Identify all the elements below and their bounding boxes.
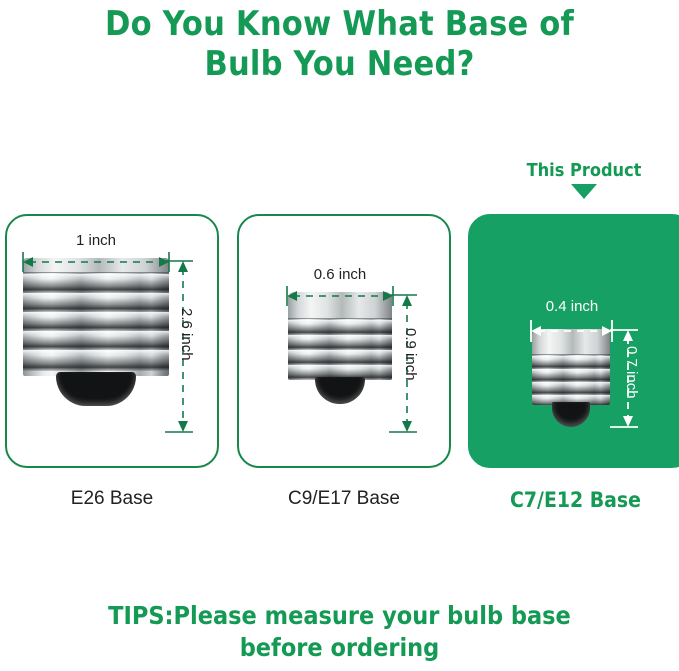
- height-dimension-label-c7-e12: 0.7 inch: [623, 346, 640, 399]
- tips-line-2: before ordering: [0, 632, 679, 664]
- width-dimension-label-c7-e12: 0.4 inch: [506, 298, 638, 315]
- page-title-line-1: Do You Know What Base of: [0, 4, 679, 44]
- tips-line-1: TIPS:Please measure your bulb base: [0, 600, 679, 632]
- width-dimension-label-c9-e17: 0.6 inch: [263, 266, 417, 283]
- infographic-root: Do You Know What Base of Bulb You Need? …: [0, 0, 679, 671]
- page-title: Do You Know What Base of Bulb You Need?: [0, 4, 679, 84]
- bulb-card-caption-c9-e17: C9/E17 Base: [237, 488, 451, 510]
- bulb-card-e26[interactable]: 1 inch 2.6 inch: [5, 214, 219, 468]
- bulb-card-c9-e17[interactable]: 0.6 inch 0.9 inch: [237, 214, 451, 468]
- page-title-line-2: Bulb You Need?: [0, 44, 679, 84]
- this-product-label: This Product: [489, 160, 679, 182]
- height-dimension-label-e26: 2.6 inch: [178, 308, 195, 361]
- tips-note: TIPS:Please measure your bulb base befor…: [0, 600, 679, 664]
- triangle-down-icon: [571, 184, 597, 199]
- dimension-lines-c7-e12: [470, 216, 679, 470]
- width-dimension-label-e26: 1 inch: [7, 232, 185, 249]
- bulb-card-c7-e12[interactable]: 0.4 inch 0.7 inch: [468, 214, 679, 468]
- this-product-callout: This Product: [489, 160, 679, 199]
- bulb-card-caption-c7-e12: C7/E12 Base: [468, 488, 679, 512]
- height-dimension-label-c9-e17: 0.9 inch: [402, 328, 419, 381]
- bulb-card-caption-e26: E26 Base: [5, 488, 219, 510]
- dimension-lines-c9-e17: [239, 216, 453, 470]
